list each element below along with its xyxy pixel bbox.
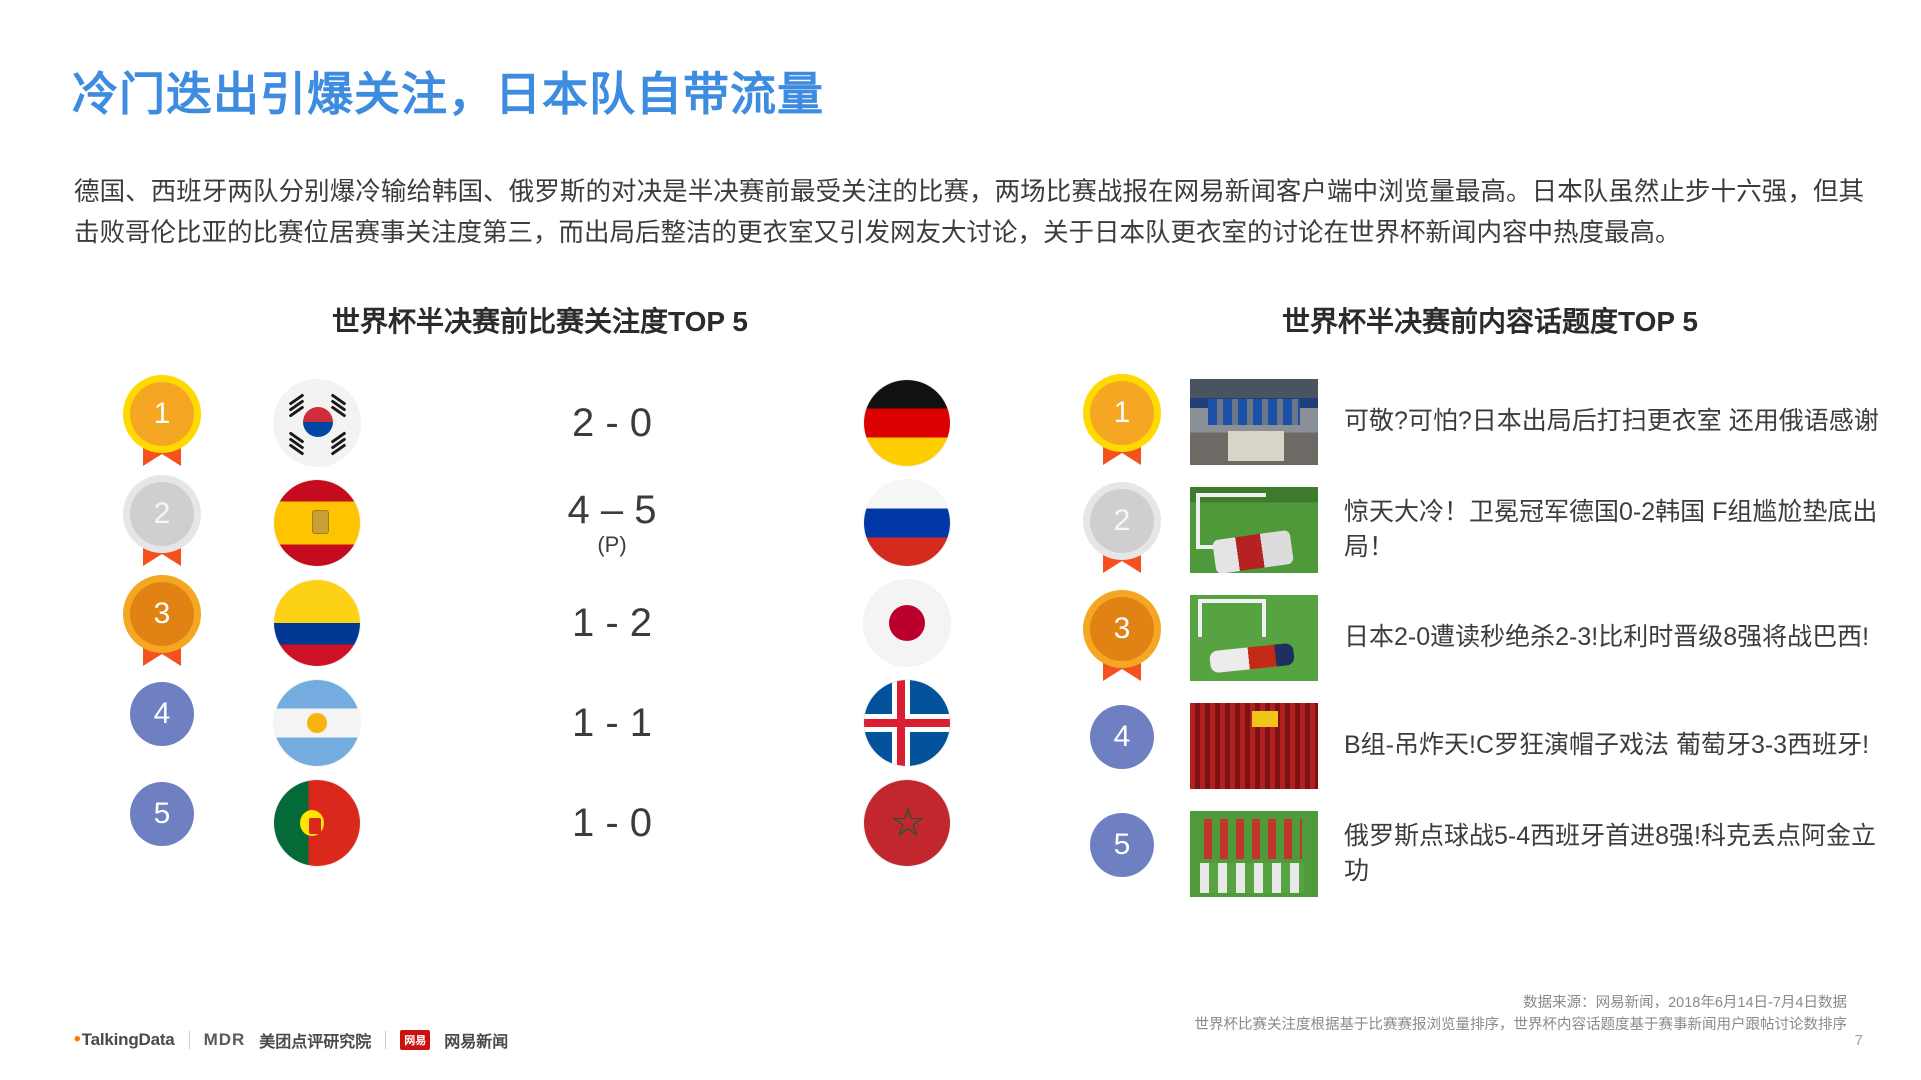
cross-red-horizontal	[864, 719, 950, 727]
rank-badge-5: 5	[1090, 813, 1156, 895]
rank-badge-4: 4	[130, 682, 196, 764]
hinomaru-icon	[889, 605, 925, 641]
list-item-label: 俄罗斯点球战5-4西班牙首进8强!科克丢点阿金立功	[1344, 819, 1890, 890]
slide: 冷门迭出引爆关注，日本队自带流量 德国、西班牙两队分别爆冷输给韩国、俄罗斯的对决…	[0, 0, 1921, 1080]
morocco-flag-icon: ☆	[864, 780, 950, 866]
celebration-photo	[1190, 811, 1318, 897]
rank-number: 4	[130, 682, 194, 746]
rank-number: 4	[1090, 705, 1154, 769]
list-item[interactable]: 5 俄罗斯点球战5-4西班牙首进8强!科克丢点阿金立功	[1090, 806, 1890, 902]
iceland-flag-icon	[864, 680, 950, 766]
rank-badge-1: 1	[1090, 381, 1156, 463]
source-line-1: 数据来源：网易新闻，2018年6月14日-7月4日数据	[1195, 992, 1848, 1014]
right-column: 世界杯半决赛前内容话题度TOP 5 1 可敬?可怕?日本出局后打扫更衣室 还用俄…	[1090, 300, 1890, 914]
rank-number: 2	[130, 482, 194, 546]
portugal-crest-icon	[300, 810, 324, 836]
table-row: 1	[130, 374, 950, 472]
rank-badge-5: 5	[130, 782, 196, 864]
rank-number: 3	[130, 582, 194, 646]
players-down-photo	[1190, 595, 1318, 681]
list-item-label: 可敬?可怕?日本出局后打扫更衣室 还用俄语感谢	[1344, 404, 1890, 440]
rank-number: 1	[130, 382, 194, 446]
right-column-heading: 世界杯半决赛前内容话题度TOP 5	[1090, 300, 1890, 340]
score-value: 1 - 2	[572, 601, 652, 645]
rank-badge-1: 1	[130, 382, 196, 464]
red-crowd-photo	[1190, 703, 1318, 789]
rank-number: 1	[1090, 381, 1154, 445]
left-column-heading: 世界杯半决赛前比赛关注度TOP 5	[130, 300, 950, 340]
germany-flag-icon	[864, 380, 950, 466]
left-column: 世界杯半决赛前比赛关注度TOP 5 1	[130, 300, 950, 874]
rank-number: 5	[130, 782, 194, 846]
divider	[385, 1031, 386, 1049]
match-score: 2 - 0	[360, 402, 864, 444]
locker-room-photo	[1190, 379, 1318, 465]
argentina-flag-icon	[274, 680, 360, 766]
sun-of-may-icon	[307, 713, 327, 733]
penalty-marker: (P)	[360, 533, 864, 556]
list-item-label: 日本2-0遭读秒绝杀2-3!比利时晋级8强将战巴西!	[1344, 620, 1890, 656]
source-line-2: 世界杯比赛关注度根据基于比赛赛报浏览量排序，世界杯内容话题度基于赛事新闻用户跟帖…	[1195, 1014, 1848, 1036]
page-number: 7	[1855, 1032, 1863, 1049]
match-score: 1 - 0	[360, 802, 864, 844]
list-item[interactable]: 1 可敬?可怕?日本出局后打扫更衣室 还用俄语感谢	[1090, 374, 1890, 470]
rank-badge-2: 2	[130, 482, 196, 564]
rank-badge-3: 3	[130, 582, 196, 664]
talkingdata-mark-icon: •	[74, 1029, 81, 1051]
score-value: 4 – 5	[568, 488, 657, 532]
russia-flag-icon	[864, 480, 950, 566]
divider	[189, 1031, 190, 1049]
score-value: 2 - 0	[572, 401, 652, 445]
rank-badge-3: 3	[1090, 597, 1156, 679]
rank-number: 3	[1090, 597, 1154, 661]
list-item[interactable]: 3 日本2-0遭读秒绝杀2-3!比利时晋级8强将战巴西!	[1090, 590, 1890, 686]
lede-paragraph: 德国、西班牙两队分别爆冷输给韩国、俄罗斯的对决是半决赛前最受关注的比赛，两场比赛…	[74, 172, 1864, 255]
match-score: 4 – 5 (P)	[360, 489, 864, 556]
pentagram-icon: ☆	[890, 806, 924, 840]
list-item[interactable]: 2 惊天大冷！卫冕冠军德国0-2韩国 F组尴尬垫底出局！	[1090, 482, 1890, 578]
spain-crest-icon	[312, 510, 329, 534]
rank-badge-2: 2	[1090, 489, 1156, 571]
source-note: 数据来源：网易新闻，2018年6月14日-7月4日数据 世界杯比赛关注度根据基于…	[1195, 992, 1848, 1037]
page-title: 冷门迭出引爆关注，日本队自带流量	[72, 58, 824, 124]
rank-number: 2	[1090, 489, 1154, 553]
brand-bar: • TalkingData MDR 美团点评研究院 网易 网易新闻	[74, 1028, 508, 1052]
table-row: 3 1 - 2	[130, 574, 950, 672]
list-item-label: 惊天大冷！卫冕冠军德国0-2韩国 F组尴尬垫底出局！	[1344, 495, 1890, 566]
list-item[interactable]: 4 B组-吊炸天!C罗狂演帽子戏法 葡萄牙3-3西班牙!	[1090, 698, 1890, 794]
list-item-label: B组-吊炸天!C罗狂演帽子戏法 葡萄牙3-3西班牙!	[1344, 728, 1890, 764]
spain-flag-icon	[274, 480, 360, 566]
rank-badge-4: 4	[1090, 705, 1156, 787]
match-score: 1 - 1	[360, 702, 864, 744]
netease-badge-icon: 网易	[400, 1030, 430, 1050]
score-value: 1 - 1	[572, 701, 652, 745]
mdr-logo-label: MDR	[204, 1030, 246, 1050]
goal-line-photo	[1190, 487, 1318, 573]
meituan-research-label: 美团点评研究院	[259, 1028, 371, 1052]
match-score: 1 - 2	[360, 602, 864, 644]
talkingdata-label: TalkingData	[82, 1030, 175, 1050]
table-row: 4 1 - 1	[130, 674, 950, 772]
taegeuk-icon	[303, 407, 333, 437]
table-row: 5 1 - 0 ☆	[130, 774, 950, 872]
korea-flag-icon	[274, 380, 360, 466]
netease-news-label: 网易新闻	[444, 1028, 508, 1052]
colombia-flag-icon	[274, 580, 360, 666]
talkingdata-logo: • TalkingData	[74, 1029, 175, 1051]
rank-number: 5	[1090, 813, 1154, 877]
portugal-flag-icon	[274, 780, 360, 866]
table-row: 2 4 – 5 (P)	[130, 474, 950, 572]
japan-flag-icon	[864, 580, 950, 666]
score-value: 1 - 0	[572, 801, 652, 845]
